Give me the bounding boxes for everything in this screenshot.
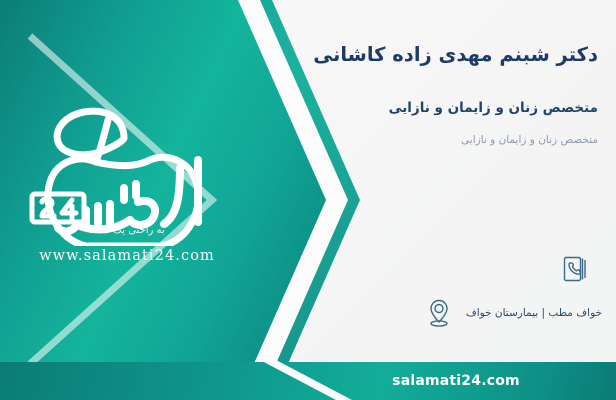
doctor-specialty-secondary: متخصص زنان و زایمان و نازایی bbox=[238, 132, 598, 149]
brand-logo: به راحتی یک لبخند www.salamati24.com bbox=[12, 96, 242, 276]
doctor-name: دکتر شبنم مهدی زاده کاشانی bbox=[238, 40, 598, 69]
location-pin-icon[interactable] bbox=[422, 296, 456, 330]
phone-info-row[interactable] bbox=[558, 252, 602, 286]
doctor-specialty: متخصص زنان و زایمان و نازایی bbox=[238, 98, 598, 120]
logo-tagline: به راحتی یک لبخند bbox=[89, 225, 164, 236]
doctor-profile-card: به راحتی یک لبخند www.salamati24.com دکت… bbox=[0, 0, 616, 400]
clinic-address: خواف مطب | بیمارستان خواف bbox=[466, 307, 602, 319]
address-info-row[interactable]: خواف مطب | بیمارستان خواف bbox=[422, 296, 602, 330]
footer-website[interactable]: salamati24.com bbox=[296, 362, 616, 400]
phone-book-icon[interactable] bbox=[558, 252, 592, 286]
logo-website-url: www.salamati24.com bbox=[12, 248, 242, 264]
